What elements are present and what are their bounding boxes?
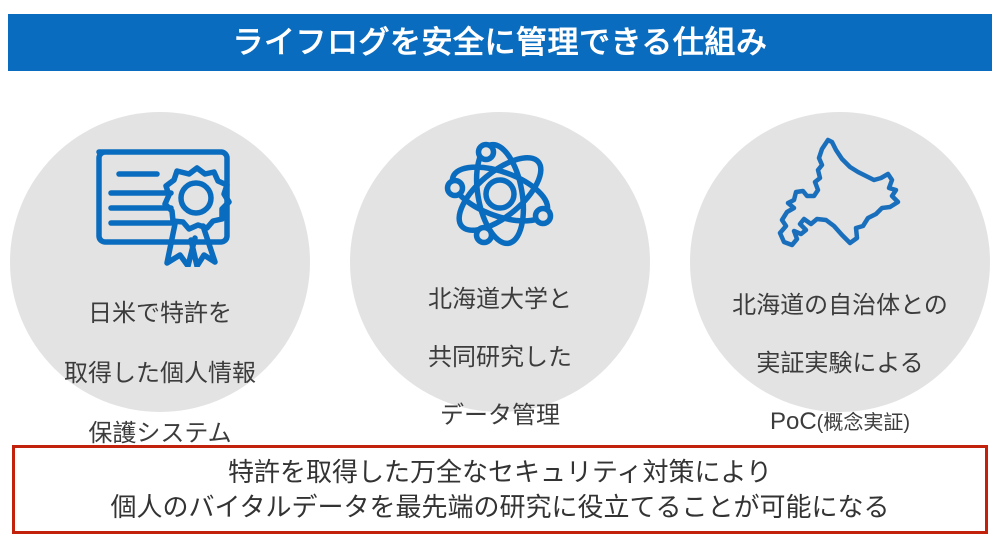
- feature-card-patent: 日米で特許を 取得した個人情報 保護システム: [10, 112, 310, 412]
- atom-icon: [440, 134, 560, 254]
- poc-line: PoC(概念実証): [695, 407, 985, 438]
- summary-callout-line-2: 個人のバイタルデータを最先端の研究に役立てることが可能になる: [111, 490, 890, 525]
- hokkaido-map-icon: [770, 134, 910, 260]
- infographic-page: ライフログを安全に管理できる仕組み: [0, 0, 1000, 556]
- page-title: ライフログを安全に管理できる仕組み: [233, 27, 768, 58]
- certificate-ribbon-icon: [85, 142, 235, 267]
- summary-callout: 特許を取得した万全なセキュリティ対策により 個人のバイタルデータを最先端の研究に…: [12, 445, 988, 534]
- feature-card-poc: 北海道の自治体との 実証実験による PoC(概念実証) の実施: [690, 112, 990, 412]
- header-banner: ライフログを安全に管理できる仕組み: [8, 14, 992, 71]
- feature-circle-row: 日米で特許を 取得した個人情報 保護システム: [0, 112, 1000, 414]
- summary-callout-line-1: 特許を取得した万全なセキュリティ対策により: [228, 455, 772, 490]
- feature-card-research: 北海道大学と 共同研究した データ管理 システム: [350, 112, 650, 412]
